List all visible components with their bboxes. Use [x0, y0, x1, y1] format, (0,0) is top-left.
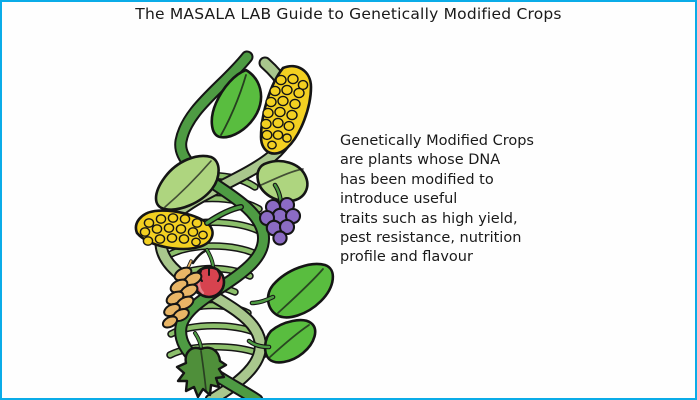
leaf-mid-right-pale — [257, 161, 307, 201]
body-line: profile and flavour — [340, 248, 570, 267]
page-title: The MASALA LAB Guide to Genetically Modi… — [0, 5, 697, 23]
body-line: has been modified to — [340, 171, 570, 190]
leaf-right-bright — [252, 264, 333, 317]
dna-helix-illustration — [115, 35, 350, 400]
body-line: Genetically Modified Crops — [340, 132, 570, 151]
body-line: introduce useful — [340, 190, 570, 209]
slide-canvas: The MASALA LAB Guide to Genetically Modi… — [0, 0, 697, 400]
corn-cob-top-right — [261, 66, 311, 153]
body-line: are plants whose DNA — [340, 151, 570, 170]
corn-cob-mid-left — [136, 207, 241, 249]
body-paragraph: Genetically Modified Crops are plants wh… — [340, 132, 570, 268]
body-line: pest resistance, nutrition — [340, 229, 570, 248]
body-line: traits such as high yield, — [340, 210, 570, 229]
